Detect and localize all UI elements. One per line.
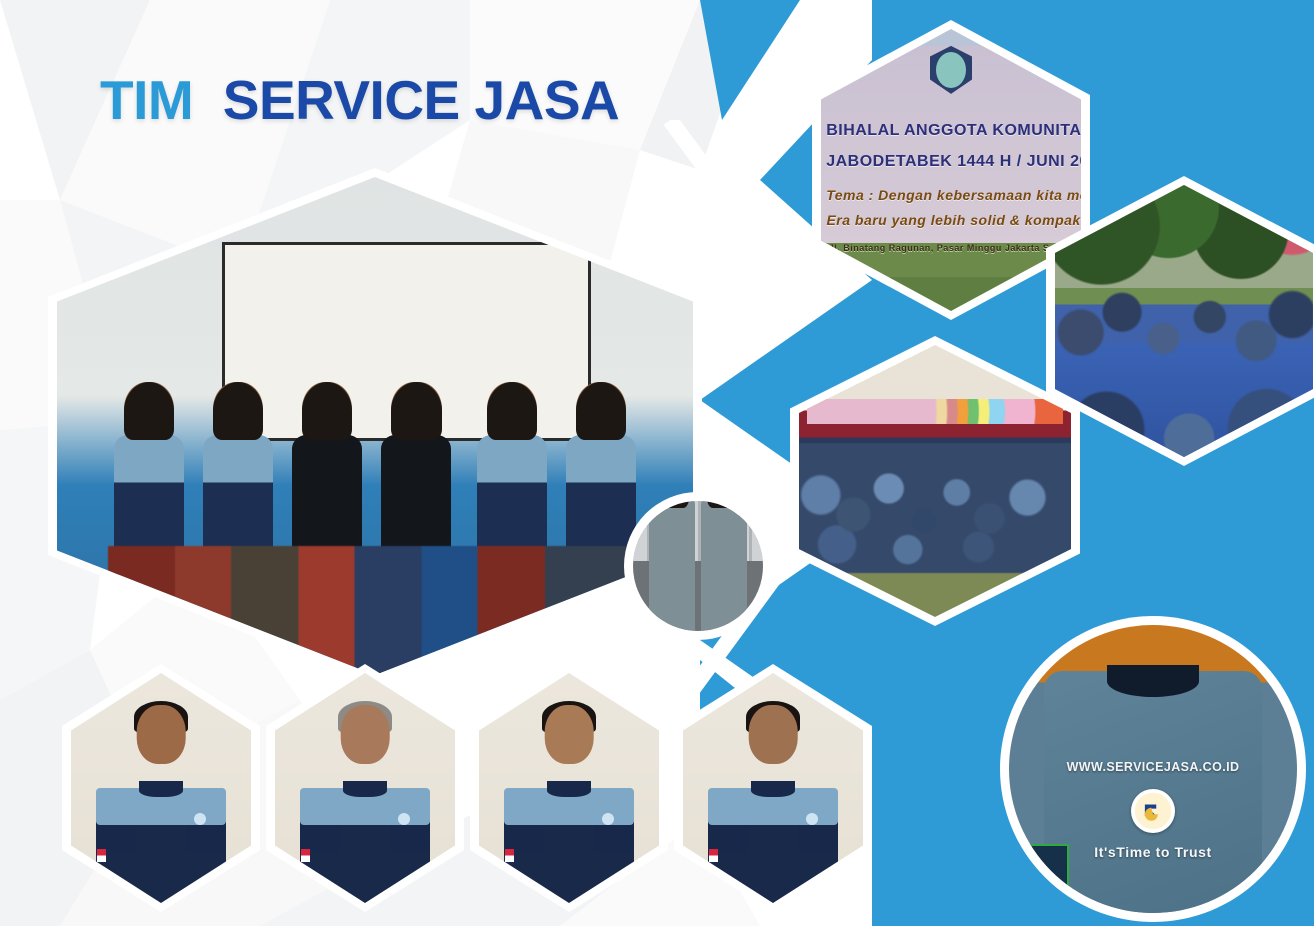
uniform-badge-icon [806,813,818,825]
portrait-photo-3 [479,673,659,903]
green-label-patch [1021,844,1070,907]
indonesia-flag-patch-icon [709,849,718,862]
large-team-crowd [799,443,1071,574]
uniform-badge-icon [194,813,206,825]
uniform-badge-icon [398,813,410,825]
group-celebration-photo [799,345,1071,617]
uniform-shirt-photo: WWW.SERVICEJASA.CO.ID It'sTime to Trust [1009,625,1297,913]
indonesia-flag-patch-icon [97,849,106,862]
indonesia-flag-patch-icon [505,849,514,862]
uniform-badge-icon [602,813,614,825]
outdoor-gathering-photo [1055,185,1313,457]
two-technicians-photo [633,501,763,631]
title-part-service-jasa: SERVICE JASA [223,69,619,131]
photo-uniform-shirt-branding[interactable]: WWW.SERVICEJASA.CO.ID It'sTime to Trust [1000,616,1306,922]
halal-bihalal-photo: BIHALAL ANGGOTA KOMUNITAS JABODETABEK 14… [821,29,1081,311]
title-part-tim: TIM [100,69,193,131]
photo-two-technicians-inset[interactable] [624,492,772,640]
banner-line-4: Era baru yang lebih solid & kompak [826,212,1081,228]
indonesia-flag-patch-icon [301,849,310,862]
service-jasa-logo-icon [1131,789,1175,833]
portrait-photo-1 [71,673,251,903]
logo-glyph [1140,798,1166,824]
portrait-photo-2 [275,673,455,903]
balloon-decoration [807,399,1063,423]
banner-line-1: BIHALAL ANGGOTA KOMUNITAS [826,122,1081,140]
page-title: TIM SERVICE JASA [100,68,619,132]
banner-line-3: Tema : Dengan kebersamaan kita menuju [826,187,1081,203]
collage-canvas: TIM SERVICE JASA BIHALAL ANGGOTA [0,0,1314,926]
banner-line-2: JABODETABEK 1444 H / JUNI 2023 [826,153,1081,171]
shirt-collar [1107,665,1199,697]
banner-line-5: Jl. Binatang Ragunan, Pasar Minggu Jakar… [826,243,1081,253]
shirt-website-text: WWW.SERVICEJASA.CO.ID [1009,760,1297,774]
portrait-photo-4 [683,673,863,903]
